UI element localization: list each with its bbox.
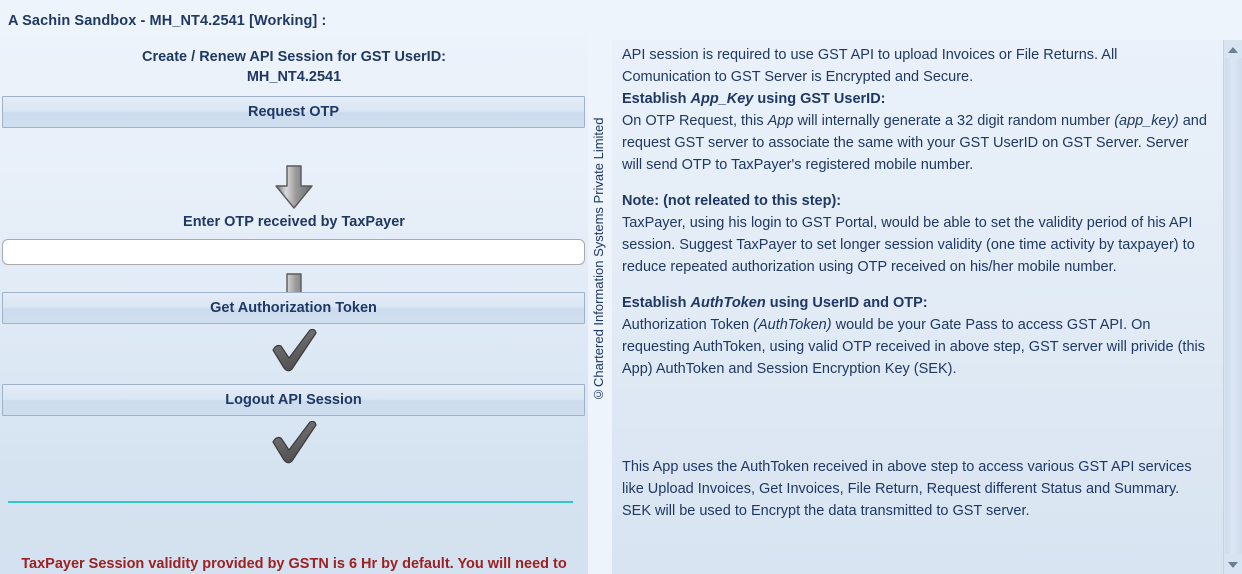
session-validity-warning: TaxPayer Session validity provided by GS… <box>14 552 574 574</box>
checkmark-icon-2 <box>0 418 588 466</box>
panel-heading: Create / Renew API Session for GST UserI… <box>0 47 588 87</box>
note-heading: Note: (not releated to this step): <box>622 190 1209 212</box>
spacer-3 <box>622 380 1209 456</box>
otp-input[interactable] <box>2 239 585 265</box>
scrollbar-thumb[interactable] <box>1225 58 1242 554</box>
auth-token-body-a: Authorization Token <box>622 317 753 333</box>
scroll-up-arrow-icon[interactable] <box>1224 41 1242 58</box>
request-otp-button[interactable]: Request OTP <box>2 96 585 128</box>
panel-heading-line-1: Create / Renew API Session for GST UserI… <box>0 47 588 67</box>
auth-token-heading-pre: Establish <box>622 295 691 311</box>
triangle-down-icon <box>1228 562 1238 568</box>
spacer-2 <box>622 278 1209 292</box>
copyright-vertical-label: ©Chartered Information Systems Private L… <box>591 42 611 402</box>
app-key-body-a: On OTP Request, this <box>622 113 768 129</box>
help-footer-paragraph: This App uses the AuthToken received in … <box>622 456 1209 522</box>
auth-token-section-body: Authorization Token (AuthToken) would be… <box>622 314 1209 380</box>
app-key-section-heading: Establish App_Key using GST UserID: <box>622 88 1209 110</box>
app-key-heading-pre: Establish <box>622 91 691 107</box>
down-arrow-icon-1 <box>0 164 588 210</box>
auth-token-heading-emphasis: AuthToken <box>691 295 766 311</box>
app-key-body-emphasis-1: App <box>768 113 794 129</box>
auth-token-section-heading: Establish AuthToken using UserID and OTP… <box>622 292 1209 314</box>
app-key-section-body: On OTP Request, this App will internally… <box>622 110 1209 176</box>
auth-token-heading-post: using UserID and OTP: <box>766 295 928 311</box>
app-key-heading-post: using GST UserID: <box>753 91 885 107</box>
help-text-panel: API session is required to use GST API t… <box>612 40 1223 574</box>
app-key-body-b: will internally generate a 32 digit rand… <box>793 113 1114 129</box>
teal-divider <box>8 501 573 503</box>
logout-api-session-button[interactable]: Logout API Session <box>2 384 585 416</box>
session-workflow-panel: Create / Renew API Session for GST UserI… <box>0 34 588 574</box>
help-intro-paragraph: API session is required to use GST API t… <box>622 44 1209 88</box>
checkmark-icon <box>266 418 322 466</box>
auth-token-body-emphasis: (AuthToken) <box>753 317 831 333</box>
checkmark-icon <box>266 326 322 374</box>
application-window: A Sachin Sandbox - MH_NT4.2541 [Working]… <box>0 0 1242 574</box>
app-key-heading-emphasis: App_Key <box>691 91 754 107</box>
otp-label: Enter OTP received by TaxPayer <box>0 214 588 230</box>
app-key-body-emphasis-2: (app_key) <box>1114 113 1178 129</box>
checkmark-icon-1 <box>0 326 588 374</box>
window-title: A Sachin Sandbox - MH_NT4.2541 [Working]… <box>8 13 326 29</box>
get-authorization-token-button[interactable]: Get Authorization Token <box>2 292 585 324</box>
down-arrow-icon <box>272 164 316 210</box>
spacer-1 <box>622 176 1209 190</box>
vertical-scrollbar[interactable] <box>1223 40 1242 574</box>
triangle-up-icon <box>1228 47 1238 53</box>
scroll-down-arrow-icon[interactable] <box>1224 556 1242 573</box>
note-body: TaxPayer, using his login to GST Portal,… <box>622 212 1209 278</box>
panel-heading-line-2: MH_NT4.2541 <box>0 67 588 87</box>
